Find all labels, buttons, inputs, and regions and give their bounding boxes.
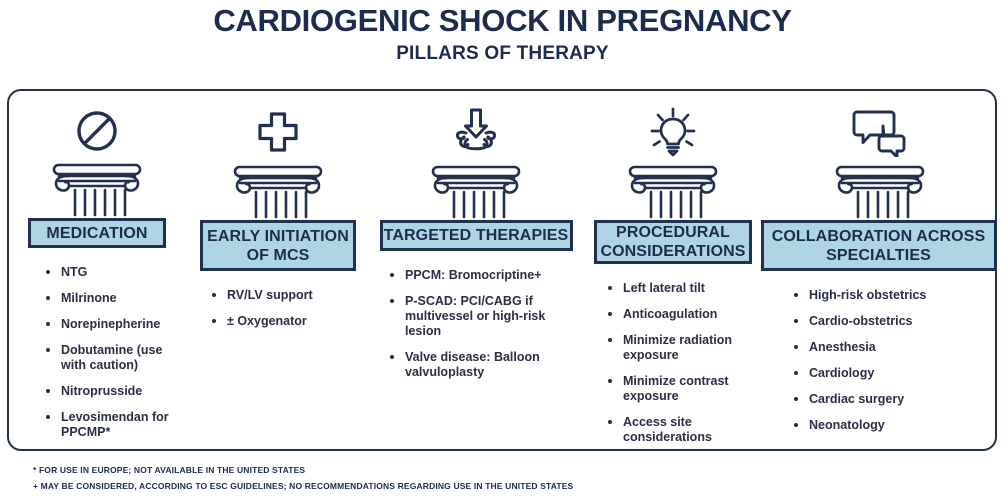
list-item: ± Oxygenator [209, 314, 369, 329]
bullet-list-targeted-therapies: PPCM: Bromocriptine+ P-SCAD: PCI/CABG if… [369, 268, 583, 391]
list-item-label: High-risk obstetrics [809, 288, 926, 302]
list-item: Norepinepherine [43, 317, 187, 332]
page-subtitle: PILLARS OF THERAPY [0, 42, 1005, 66]
list-item: PPCM: Bromocriptine+ [387, 268, 583, 283]
list-item-label: Levosimendan for PPCMP* [61, 410, 169, 439]
bullet-dot-icon [608, 286, 612, 290]
list-item-label: ± Oxygenator [227, 314, 307, 328]
ionic-pillar-icon [230, 164, 326, 220]
infographic-page: CARDIOGENIC SHOCK IN PREGNANCY PILLARS O… [0, 0, 1005, 497]
list-item: Access site considerations [605, 415, 763, 445]
speech-bubbles-icon [849, 106, 911, 158]
bullet-dot-icon [46, 296, 50, 300]
footnote-plus: + MAY BE CONSIDERED, ACCORDING TO ESC GU… [33, 478, 973, 494]
bullet-dot-icon [608, 379, 612, 383]
pillar-column-early-initiation-of-mcs: EARLY INITIATION OF MCS RV/LV support ± … [187, 89, 369, 451]
ionic-pillar-icon [428, 164, 524, 220]
bullet-list-collaboration-across-specialties: High-risk obstetrics Cardio-obstetrics A… [763, 288, 997, 444]
bullet-dot-icon [46, 348, 50, 352]
list-item-label: Anesthesia [809, 340, 876, 354]
bullet-dot-icon [794, 319, 798, 323]
list-item-label: RV/LV support [227, 288, 313, 302]
page-title: CARDIOGENIC SHOCK IN PREGNANCY [0, 4, 1005, 38]
list-item: Cardio-obstetrics [791, 314, 997, 329]
list-item: Levosimendan for PPCMP* [43, 410, 187, 440]
list-item: High-risk obstetrics [791, 288, 997, 303]
list-item-label: Norepinepherine [61, 317, 160, 331]
list-item: RV/LV support [209, 288, 369, 303]
list-item: Cardiac surgery [791, 392, 997, 407]
bullet-dot-icon [794, 345, 798, 349]
pillar-column-medication: MEDICATION NTG Milrinone Norepinepherine… [7, 89, 187, 451]
list-item: Anticoagulation [605, 307, 763, 322]
list-item-label: Nitroprusside [61, 384, 142, 398]
list-item-label: P-SCAD: PCI/CABG if multivessel or high-… [405, 294, 545, 338]
list-item-label: Cardiac surgery [809, 392, 904, 406]
bullet-dot-icon [46, 389, 50, 393]
pillars-container: MEDICATION NTG Milrinone Norepinepherine… [7, 89, 997, 451]
bullet-dot-icon [46, 322, 50, 326]
bullet-dot-icon [212, 293, 216, 297]
bullet-list-medication: NTG Milrinone Norepinepherine Dobutamine… [7, 265, 187, 451]
list-item: Anesthesia [791, 340, 997, 355]
list-item: Cardiology [791, 366, 997, 381]
list-item: NTG [43, 265, 187, 280]
header-block: CARDIOGENIC SHOCK IN PREGNANCY PILLARS O… [0, 4, 1005, 66]
list-item: Neonatology [791, 418, 997, 433]
bullet-dot-icon [608, 338, 612, 342]
list-item: Minimize contrast exposure [605, 374, 763, 404]
list-item-label: Cardiology [809, 366, 874, 380]
lightbulb-icon [646, 106, 700, 158]
pillar-column-targeted-therapies: TARGETED THERAPIES PPCM: Bromocriptine+ … [369, 89, 583, 451]
pillar-label-medication: MEDICATION [28, 218, 166, 248]
list-item-label: Access site considerations [623, 415, 712, 444]
bullet-dot-icon [46, 415, 50, 419]
pillar-column-collaboration-across-specialties: COLLABORATION ACROSS SPECIALTIES High-ri… [763, 89, 997, 451]
list-item-label: Valve disease: Balloon valvuloplasty [405, 350, 540, 379]
list-item-label: NTG [61, 265, 87, 279]
bullet-dot-icon [608, 420, 612, 424]
footnote-asterisk: * FOR USE IN EUROPE; NOT AVAILABLE IN TH… [33, 462, 973, 478]
bullet-dot-icon [390, 299, 394, 303]
list-item-label: Dobutamine (use with caution) [61, 343, 162, 372]
list-item-label: Anticoagulation [623, 307, 717, 321]
pillar-label-procedural-considerations: PROCEDURAL CONSIDERATIONS [594, 220, 752, 264]
list-item-label: Milrinone [61, 291, 117, 305]
list-item: Minimize radiation exposure [605, 333, 763, 363]
ionic-pillar-icon [832, 164, 928, 220]
bullet-list-procedural-considerations: Left lateral tilt Anticoagulation Minimi… [583, 281, 763, 456]
list-item: P-SCAD: PCI/CABG if multivessel or high-… [387, 294, 583, 339]
list-item-label: Left lateral tilt [623, 281, 705, 295]
bullet-dot-icon [794, 371, 798, 375]
bullet-dot-icon [794, 423, 798, 427]
ionic-pillar-icon [625, 164, 721, 220]
pillar-column-procedural-considerations: PROCEDURAL CONSIDERATIONS Left lateral t… [583, 89, 763, 451]
pillar-label-early-initiation-of-mcs: EARLY INITIATION OF MCS [200, 220, 356, 271]
bullet-dot-icon [608, 312, 612, 316]
list-item-label: Neonatology [809, 418, 885, 432]
list-item: Dobutamine (use with caution) [43, 343, 187, 373]
list-item-label: Minimize radiation exposure [623, 333, 732, 362]
list-item-label: PPCM: Bromocriptine+ [405, 268, 541, 282]
bullet-list-early-initiation-of-mcs: RV/LV support ± Oxygenator [187, 288, 369, 340]
list-item: Nitroprusside [43, 384, 187, 399]
medical-cross-icon [253, 106, 303, 158]
bullet-dot-icon [794, 397, 798, 401]
bullet-dot-icon [794, 293, 798, 297]
list-item: Left lateral tilt [605, 281, 763, 296]
list-item-label: Cardio-obstetrics [809, 314, 913, 328]
pillar-label-collaboration-across-specialties: COLLABORATION ACROSS SPECIALTIES [761, 220, 997, 271]
bullet-dot-icon [212, 319, 216, 323]
arrow-target-receptor-icon [450, 106, 502, 158]
ionic-pillar-icon [49, 162, 145, 218]
list-item: Valve disease: Balloon valvuloplasty [387, 350, 583, 380]
list-item: Milrinone [43, 291, 187, 306]
pill-tablet-icon [72, 106, 122, 156]
bullet-dot-icon [390, 273, 394, 277]
pillar-label-targeted-therapies: TARGETED THERAPIES [380, 220, 573, 251]
footnotes-block: * FOR USE IN EUROPE; NOT AVAILABLE IN TH… [33, 462, 973, 494]
bullet-dot-icon [390, 355, 394, 359]
list-item-label: Minimize contrast exposure [623, 374, 729, 403]
bullet-dot-icon [46, 270, 50, 274]
